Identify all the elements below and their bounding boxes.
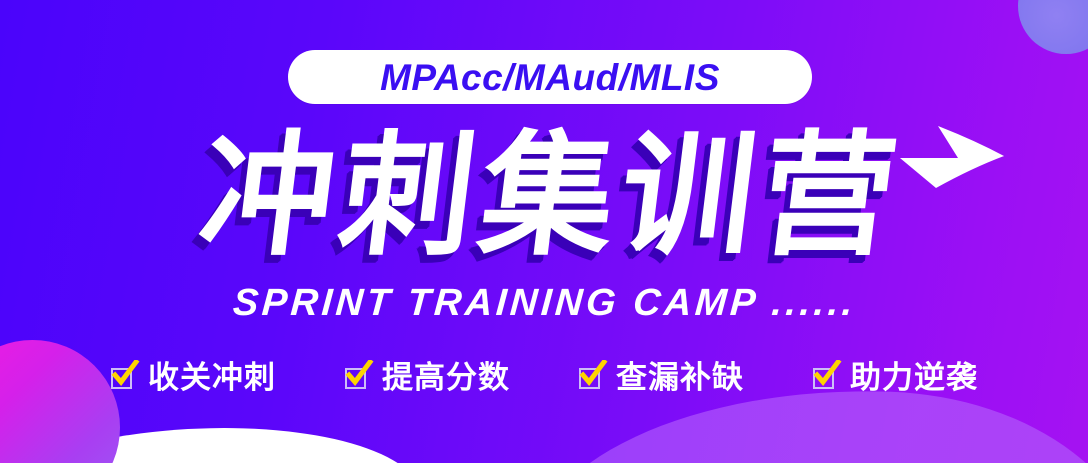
feature-label-3: 查漏补缺 [616, 362, 744, 393]
feature-label-4: 助力逆袭 [850, 362, 978, 393]
feature-label-2: 提高分数 [382, 362, 510, 393]
program-badge: MPAcc/MAud/MLIS [288, 50, 812, 104]
checkbox-checked-icon [110, 365, 135, 390]
subtitle-container: SPRINT TRAINING CAMP ...... [0, 283, 1088, 325]
feature-item-4: 助力逆袭 [812, 362, 978, 393]
checkbox-checked-icon [344, 365, 369, 390]
feature-list: 收关冲刺 提高分数 查漏补缺 [0, 362, 1088, 393]
headline-container: 冲刺集训营 [0, 112, 1088, 282]
promo-banner: MPAcc/MAud/MLIS 冲刺集训营 SPRINT TRAINING CA… [0, 0, 1088, 463]
checkbox-checked-icon [812, 365, 837, 390]
subtitle-text: SPRINT TRAINING CAMP ...... [231, 283, 857, 325]
program-badge-label: MPAcc/MAud/MLIS [380, 59, 720, 96]
banner-content: MPAcc/MAud/MLIS 冲刺集训营 SPRINT TRAINING CA… [0, 0, 1088, 463]
feature-label-1: 收关冲刺 [148, 362, 276, 393]
feature-item-3: 查漏补缺 [578, 362, 744, 393]
feature-item-1: 收关冲刺 [110, 362, 276, 393]
headline-text: 冲刺集训营 [179, 130, 909, 264]
feature-item-2: 提高分数 [344, 362, 510, 393]
checkbox-checked-icon [578, 365, 603, 390]
